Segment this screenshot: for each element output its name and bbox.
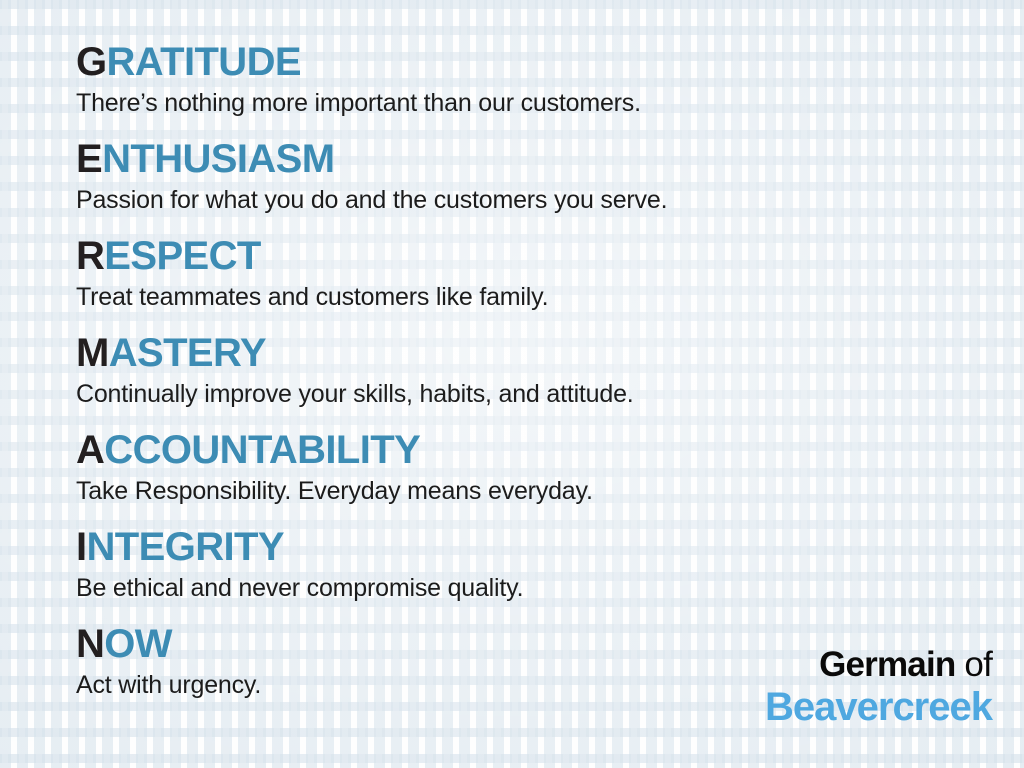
value-description-respect: Treat teammates and customers like famil… xyxy=(76,281,1024,313)
value-initial-letter: R xyxy=(76,234,104,278)
value-heading-remainder: OW xyxy=(104,622,172,666)
value-description-integrity: Be ethical and never compromise quality. xyxy=(76,572,1024,604)
value-initial-letter: I xyxy=(76,525,87,569)
value-description-accountability: Take Responsibility. Everyday means ever… xyxy=(76,475,1024,507)
value-block-integrity: INTEGRITY Be ethical and never compromis… xyxy=(76,523,1024,604)
logo-location-name: Beavercreek xyxy=(765,685,992,730)
value-heading-remainder: NTHUSIASM xyxy=(102,137,334,181)
value-block-respect: RESPECT Treat teammates and customers li… xyxy=(76,232,1024,313)
value-heading-remainder: RATITUDE xyxy=(107,40,301,84)
value-heading-remainder: ESPECT xyxy=(104,234,260,278)
value-description-gratitude: There’s nothing more important than our … xyxy=(76,87,1024,119)
logo-connector-word: of xyxy=(955,645,992,684)
value-block-gratitude: GRATITUDE There’s nothing more important… xyxy=(76,38,1024,119)
value-description-mastery: Continually improve your skills, habits,… xyxy=(76,378,1024,410)
value-initial-letter: G xyxy=(76,40,107,84)
value-heading-remainder: CCOUNTABILITY xyxy=(104,428,420,472)
value-initial-letter: M xyxy=(76,331,109,375)
value-initial-letter: N xyxy=(76,622,104,666)
dealership-logo: Germain of Beavercreek xyxy=(765,645,992,730)
value-heading-integrity: INTEGRITY xyxy=(76,523,1024,571)
value-heading-enthusiasm: ENTHUSIASM xyxy=(76,135,1024,183)
value-initial-letter: E xyxy=(76,137,102,181)
value-description-enthusiasm: Passion for what you do and the customer… xyxy=(76,184,1024,216)
value-heading-accountability: ACCOUNTABILITY xyxy=(76,426,1024,474)
logo-top-line: Germain of xyxy=(765,645,992,685)
value-initial-letter: A xyxy=(76,428,104,472)
value-block-enthusiasm: ENTHUSIASM Passion for what you do and t… xyxy=(76,135,1024,216)
value-heading-mastery: MASTERY xyxy=(76,329,1024,377)
value-heading-remainder: NTEGRITY xyxy=(87,525,284,569)
value-heading-remainder: ASTERY xyxy=(109,331,266,375)
value-block-mastery: MASTERY Continually improve your skills,… xyxy=(76,329,1024,410)
value-block-accountability: ACCOUNTABILITY Take Responsibility. Ever… xyxy=(76,426,1024,507)
logo-brand-name: Germain xyxy=(819,645,955,684)
value-heading-gratitude: GRATITUDE xyxy=(76,38,1024,86)
value-heading-respect: RESPECT xyxy=(76,232,1024,280)
